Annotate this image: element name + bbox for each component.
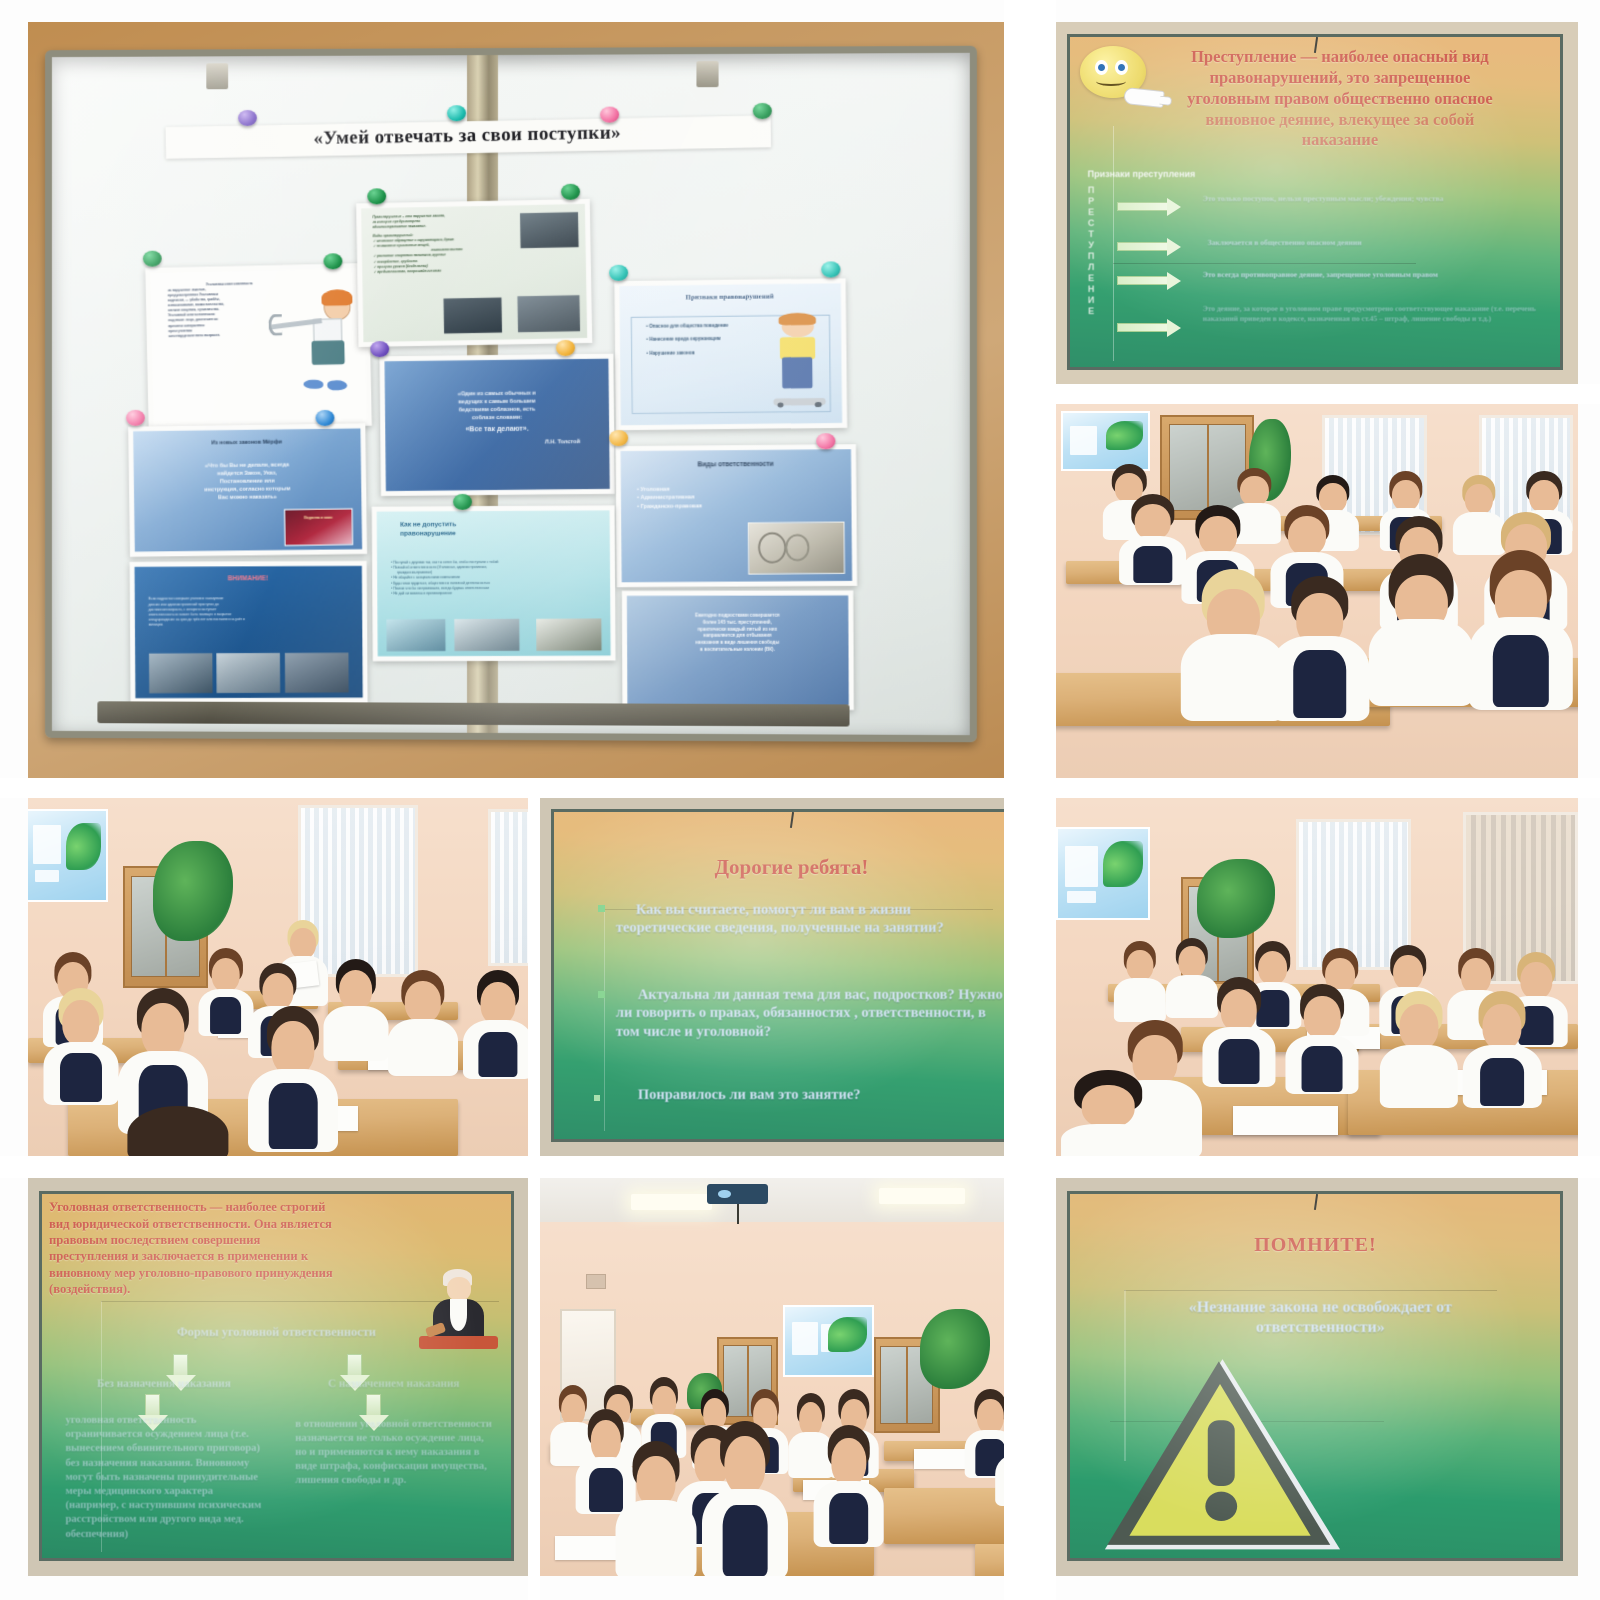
arrow-down-icon-2 bbox=[347, 1354, 362, 1376]
pupil-2-front-1 bbox=[43, 988, 118, 1103]
gap-horizontal-2 bbox=[0, 1156, 1600, 1178]
gap-vertical-2 bbox=[528, 790, 540, 1600]
projection-wall-4: ПОМНИТЕ! «Незнание закона не освобождает… bbox=[1056, 1178, 1578, 1576]
pupil-2-5 bbox=[388, 970, 458, 1074]
sheet-criminal-liability: Уголовная ответственность за нарушение з… bbox=[145, 263, 372, 430]
bullet-dot-1 bbox=[598, 905, 605, 912]
pupil-front-4 bbox=[1468, 550, 1572, 707]
offence-photo-1 bbox=[520, 212, 579, 248]
pupil-4-13 bbox=[616, 1441, 697, 1576]
criminal-liability-col2-text: в отношении уголовной ответственности на… bbox=[295, 1418, 492, 1489]
projection-screen-3: Уголовная ответственность — наиболее стр… bbox=[39, 1191, 514, 1561]
projection-wall-2: Дорогие ребята! Как вы считаете, помогут… bbox=[540, 798, 1046, 1156]
bullet-dot-2 bbox=[598, 991, 605, 998]
pupil-3-front-2 bbox=[1061, 1070, 1155, 1156]
crime-definition-title: Преступление — наиболее опасный вид прав… bbox=[1129, 47, 1550, 151]
sheet-signs-of-offence: Признаки правонарушений • Опасное для об… bbox=[614, 278, 846, 430]
arrow-icon-3 bbox=[1117, 276, 1169, 285]
murphy-law-title: Из новых законов Мёрфи bbox=[147, 437, 347, 448]
arrow-icon-1 bbox=[1117, 202, 1169, 211]
magnet-green-6 bbox=[453, 494, 472, 510]
tolstoy-quote-text: «Один из самых обычных и ведущих к самым… bbox=[402, 388, 591, 448]
board-bracket-left bbox=[206, 63, 228, 89]
magnet-purple-1 bbox=[238, 110, 257, 126]
offence-photo-3 bbox=[517, 295, 580, 332]
magnet-purple-2 bbox=[370, 341, 389, 357]
arrow-down-icon-1 bbox=[173, 1354, 188, 1376]
slide-crime-definition-photo: Преступление — наиболее опасный вид прав… bbox=[1056, 22, 1578, 384]
pupil-4-12 bbox=[813, 1425, 884, 1544]
arrow-down-icon-3 bbox=[145, 1394, 160, 1416]
sheet-offence-definition: Правонарушение – это нарушение закона, з… bbox=[356, 199, 592, 347]
classroom-scene-4 bbox=[540, 1178, 1046, 1576]
pupil-3-1 bbox=[1113, 941, 1165, 1020]
dear-children-bullet-3: Понравилось ли вам это занятие? bbox=[616, 1087, 1005, 1104]
murphy-book-caption: Подросток и закон bbox=[289, 515, 347, 521]
pupil-2-front-3 bbox=[248, 1006, 338, 1149]
projection-screen: Преступление — наиболее опасный вид прав… bbox=[1067, 34, 1563, 371]
pupil-front-3 bbox=[1369, 554, 1473, 704]
whiteboard-banner-text: «Умей отвечать за свои поступки» bbox=[313, 122, 621, 149]
pupil-3-9 bbox=[1286, 984, 1359, 1091]
boy-with-slingshot-illustration bbox=[266, 289, 358, 391]
magnet-green-2 bbox=[142, 251, 161, 267]
warning-triangle-icon bbox=[1100, 1350, 1345, 1554]
photo-students-listening-right bbox=[1056, 798, 1578, 1156]
remember-body: «Незнание закона не освобождает от ответ… bbox=[1129, 1298, 1511, 1340]
projection-screen-2: Дорогие ребята! Как вы считаете, помогут… bbox=[551, 809, 1032, 1142]
statistics-text: Ежегодно подростками совершается более 1… bbox=[640, 613, 835, 653]
pupil-2-6 bbox=[463, 970, 528, 1077]
window-4 bbox=[488, 809, 528, 967]
offence-photo-2 bbox=[443, 298, 502, 334]
classroom-scene-2 bbox=[28, 798, 528, 1156]
attention-photo-3 bbox=[284, 653, 348, 693]
magnet-pink-1 bbox=[600, 106, 619, 122]
whiteboard: «Умей отвечать за свои поступки» Уголовн… bbox=[45, 45, 977, 741]
sheet-prevent-offence: Как не допустить правонарушение • Поступ… bbox=[372, 505, 616, 661]
dear-children-bullet-1: Как вы считаете, помогут ли вам в жизни … bbox=[616, 901, 996, 938]
sheet-tolstoy-quote: «Один из самых обычных и ведущих к самым… bbox=[379, 353, 614, 495]
photo-classroom-wide bbox=[540, 1178, 1046, 1576]
criminal-liability-col2-heading: С назначением наказания bbox=[295, 1378, 492, 1390]
attention-photo-1 bbox=[148, 653, 212, 693]
magnet-green-4 bbox=[367, 188, 386, 204]
paper-3-3 bbox=[1233, 1106, 1337, 1135]
murphy-book-thumb: Подросток и закон bbox=[284, 508, 353, 545]
whiteboard-photo: «Умей отвечать за свои поступки» Уголовн… bbox=[28, 22, 1004, 778]
signs-of-offence-title: Признаки правонарушений bbox=[627, 292, 830, 304]
classroom-scene-3 bbox=[1056, 798, 1578, 1156]
crime-bullet-3: Это всегда противоправное деяние, запрещ… bbox=[1203, 270, 1536, 280]
magnet-teal-3 bbox=[821, 261, 840, 277]
types-of-liability-bullets: • Уголовная • Административная • Граждан… bbox=[637, 485, 798, 511]
handcuffs-photo bbox=[748, 522, 845, 575]
classroom-scene-1 bbox=[1056, 404, 1578, 778]
wall-poster bbox=[1061, 411, 1150, 471]
attention-text: Если подросток совершил уголовно наказуе… bbox=[148, 596, 348, 627]
projection-screen-4: ПОМНИТЕ! «Незнание закона не освобождает… bbox=[1067, 1191, 1563, 1561]
arrow-down-icon-4 bbox=[366, 1394, 381, 1416]
pupil-4-14 bbox=[702, 1421, 788, 1576]
whiteboard-marker-tray bbox=[97, 701, 849, 726]
pupil-2-foreground-head bbox=[123, 1106, 233, 1156]
sheet-statistics: Ежегодно подростками совершается более 1… bbox=[621, 590, 853, 710]
magnet-green-3 bbox=[323, 253, 342, 269]
pupil-3-8 bbox=[1202, 977, 1275, 1084]
dear-children-title: Дорогие ребята! bbox=[554, 855, 1029, 880]
pupil-3-10 bbox=[1380, 991, 1458, 1106]
crime-bullet-2: Заключается в общественно опасном деянии bbox=[1208, 238, 1531, 248]
signs-of-offence-bullets: • Опасное для общества поведение • Нанес… bbox=[645, 322, 760, 357]
offence-definition-text: Правонарушение – это нарушение закона, з… bbox=[373, 212, 522, 275]
screen-hook-4 bbox=[1314, 1194, 1318, 1210]
pupil-mid-1 bbox=[1119, 494, 1187, 584]
crime-bullet-1: Это только поступок, нельзя преступным м… bbox=[1203, 194, 1546, 204]
judge-with-gavel-icon bbox=[416, 1267, 502, 1375]
chemistry-poster-2 bbox=[1056, 827, 1150, 920]
bullet-dot-3 bbox=[594, 1095, 600, 1101]
dear-children-bullet-2: Актуальна ли данная тема для вас, подрос… bbox=[616, 986, 1005, 1042]
crime-signs-subheading: Признаки преступления bbox=[1088, 169, 1196, 179]
photo-students-seated-left bbox=[28, 798, 528, 1156]
gap-horizontal-3 bbox=[1004, 384, 1600, 404]
chemistry-poster bbox=[28, 809, 108, 902]
magnet-green-1 bbox=[753, 102, 772, 118]
screen-hook-2 bbox=[790, 812, 794, 828]
murphy-law-text: «Что бы Вы не делали, всегда найдется За… bbox=[145, 460, 350, 503]
projection-wall: Преступление — наиболее опасный вид прав… bbox=[1056, 22, 1578, 384]
crime-side-label: ПРЕСТУПЛЕНИЕ bbox=[1086, 185, 1096, 360]
projector-icon bbox=[707, 1184, 768, 1204]
chemistry-poster-3 bbox=[783, 1305, 874, 1377]
slide-remember-photo: ПОМНИТЕ! «Незнание закона не освобождает… bbox=[1056, 1178, 1578, 1576]
magnet-pink-2 bbox=[126, 410, 145, 426]
sheet-murphy-law: Из новых законов Мёрфи «Что бы Вы не дел… bbox=[128, 423, 367, 557]
remember-title: ПОМНИТЕ! bbox=[1070, 1234, 1560, 1257]
prevent-photo-2 bbox=[454, 619, 519, 651]
pupil-front-2 bbox=[1270, 576, 1369, 718]
crime-bullet-4: Это деяние, за которое в уголовном праве… bbox=[1203, 304, 1546, 323]
pupil-3-11 bbox=[1463, 991, 1541, 1106]
board-bracket-right bbox=[696, 61, 718, 87]
arrow-icon-4 bbox=[1117, 323, 1169, 332]
ceiling-lamp-2 bbox=[879, 1188, 965, 1204]
prevent-offence-bullets: • Поступай с другими так, как ты хотел б… bbox=[391, 560, 601, 597]
magnet-teal-1 bbox=[446, 105, 465, 121]
gap-vertical-1 bbox=[1004, 0, 1056, 1600]
magnet-teal-2 bbox=[609, 265, 628, 281]
magnet-orange-2 bbox=[609, 430, 628, 446]
magnet-pink-3 bbox=[816, 433, 835, 449]
slide-dear-children-photo: Дорогие ребята! Как вы считаете, помогут… bbox=[540, 798, 1046, 1156]
attention-photo-2 bbox=[216, 653, 280, 693]
ceiling-lamp-1 bbox=[631, 1194, 712, 1210]
attention-title: ВНИМАНИЕ! bbox=[148, 573, 348, 583]
slide-criminal-liability-photo: Уголовная ответственность — наиболее стр… bbox=[28, 1178, 528, 1576]
photo-students-writing bbox=[1056, 404, 1578, 778]
prevent-offence-title: Как не допустить правонарушение bbox=[400, 519, 591, 539]
arrow-icon-2 bbox=[1117, 242, 1169, 251]
types-of-liability-title: Виды ответственности bbox=[634, 460, 837, 471]
gap-horizontal-1 bbox=[0, 778, 1600, 798]
magnet-green-5 bbox=[561, 183, 580, 199]
criminal-liability-subheading: Формы уголовной ответственности bbox=[126, 1325, 426, 1340]
sheet-attention: ВНИМАНИЕ! Если подросток совершил уголов… bbox=[129, 560, 367, 703]
prevent-photo-1 bbox=[387, 620, 445, 652]
prevent-photo-3 bbox=[536, 619, 602, 651]
wall-vent-icon bbox=[586, 1274, 606, 1290]
magnet-blue-1 bbox=[315, 410, 334, 426]
photo-collage: «Умей отвечать за свои поступки» Уголовн… bbox=[0, 0, 1600, 1600]
projection-wall-3: Уголовная ответственность — наиболее стр… bbox=[28, 1178, 528, 1576]
magnet-orange-1 bbox=[555, 339, 574, 355]
criminal-liability-col1-heading: Без назначения наказания bbox=[65, 1378, 262, 1390]
criminal-liability-col1-text: уголовная ответственность ограничивается… bbox=[65, 1414, 262, 1542]
sheet-types-of-liability: Виды ответственности • Уголовная • Админ… bbox=[616, 444, 857, 587]
boy-on-skateboard-illustration bbox=[767, 314, 830, 407]
